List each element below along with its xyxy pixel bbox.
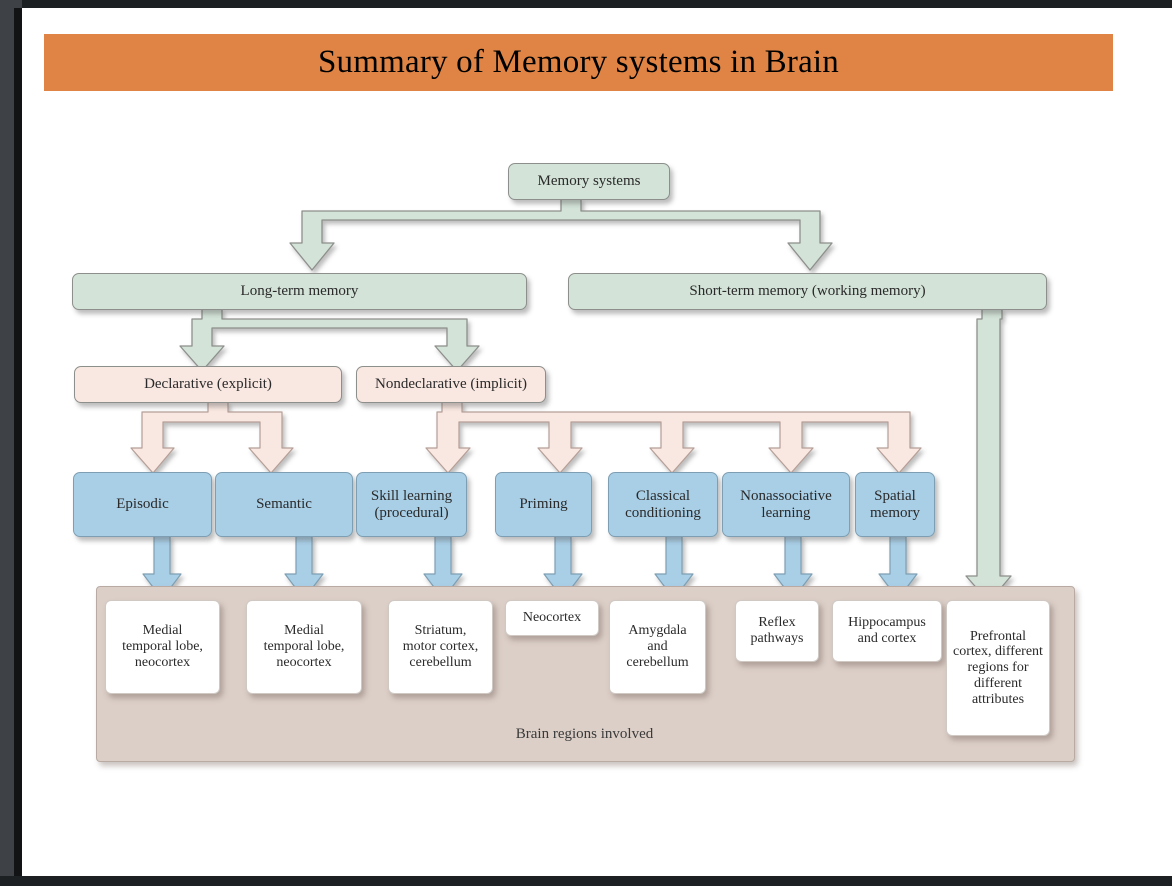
node-label: Short-term memory (working memory) (689, 283, 925, 300)
node-nonassociative-learning[interactable]: Nonassociativelearning (722, 472, 850, 537)
node-long-term-memory[interactable]: Long-term memory (72, 273, 527, 310)
region-amygdala-and-cerebellum[interactable]: Amygdalaandcerebellum (609, 600, 706, 694)
region-reflex-pathways[interactable]: Reflexpathways (735, 600, 819, 662)
node-skill-learning[interactable]: Skill learning(procedural) (356, 472, 467, 537)
region-label: Hippocampusand cortex (848, 615, 926, 646)
brain-regions-caption: Brain regions involved (96, 726, 1073, 743)
slide-frame-left-inner (14, 8, 22, 876)
slide-frame-top (0, 0, 1172, 8)
node-memory-systems[interactable]: Memory systems (508, 163, 670, 200)
node-nondeclarative[interactable]: Nondeclarative (implicit) (356, 366, 546, 403)
node-label: Memory systems (538, 173, 641, 190)
node-label: Semantic (256, 496, 312, 513)
node-declarative[interactable]: Declarative (explicit) (74, 366, 342, 403)
slide-frame-bottom (0, 876, 1172, 886)
node-label: Classicalconditioning (625, 488, 701, 522)
node-priming[interactable]: Priming (495, 472, 592, 537)
region-hippocampus-and-cortex[interactable]: Hippocampusand cortex (832, 600, 942, 662)
region-label: Reflexpathways (751, 615, 804, 646)
node-classical-conditioning[interactable]: Classicalconditioning (608, 472, 718, 537)
node-label: Nonassociativelearning (740, 488, 832, 522)
node-label: Episodic (116, 496, 169, 513)
region-neocortex[interactable]: Neocortex (505, 600, 599, 636)
region-medial-temporal-lobe-1[interactable]: Medialtemporal lobe,neocortex (105, 600, 220, 694)
node-episodic[interactable]: Episodic (73, 472, 212, 537)
region-prefrontal-cortex[interactable]: Prefrontalcortex, differentregions fordi… (946, 600, 1050, 736)
node-label: Declarative (explicit) (144, 376, 272, 393)
region-label: Striatum,motor cortex,cerebellum (403, 623, 478, 670)
node-label: Priming (519, 496, 567, 513)
region-label: Neocortex (523, 610, 581, 626)
node-label: Spatialmemory (870, 488, 920, 522)
region-label: Prefrontalcortex, differentregions fordi… (953, 629, 1043, 707)
region-label: Medialtemporal lobe,neocortex (122, 623, 203, 670)
region-label: Medialtemporal lobe,neocortex (264, 623, 345, 670)
slide-canvas: Summary of Memory systems in Brain (22, 8, 1172, 876)
node-label: Long-term memory (241, 283, 359, 300)
node-short-term-memory[interactable]: Short-term memory (working memory) (568, 273, 1047, 310)
node-semantic[interactable]: Semantic (215, 472, 353, 537)
region-label: Amygdalaandcerebellum (626, 623, 688, 670)
memory-systems-diagram: Brain regions involved Memory systems Lo… (22, 8, 1172, 876)
node-label: Skill learning(procedural) (371, 488, 452, 522)
region-striatum-motor-cortex-cerebellum[interactable]: Striatum,motor cortex,cerebellum (388, 600, 493, 694)
node-spatial-memory[interactable]: Spatialmemory (855, 472, 935, 537)
region-medial-temporal-lobe-2[interactable]: Medialtemporal lobe,neocortex (246, 600, 362, 694)
node-label: Nondeclarative (implicit) (375, 376, 527, 393)
